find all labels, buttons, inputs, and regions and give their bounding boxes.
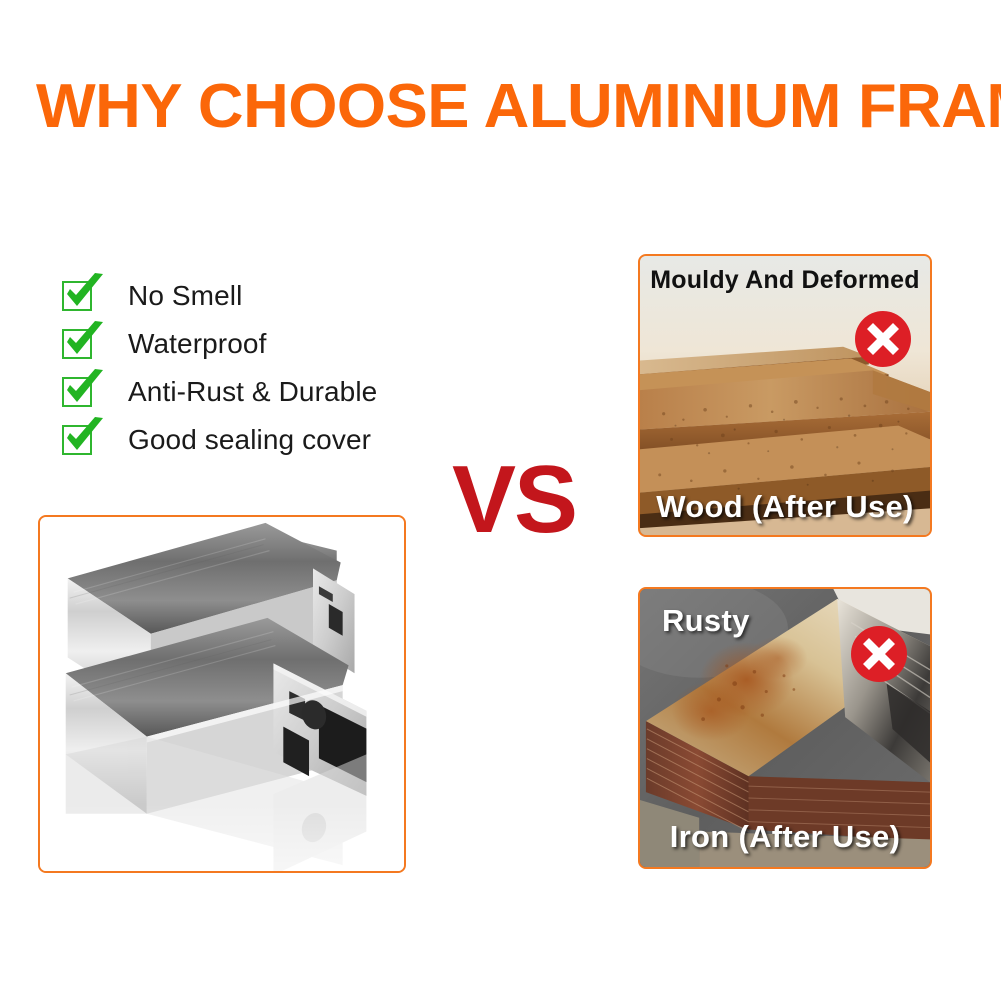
list-item: Good sealing cover — [62, 416, 482, 464]
list-item: No Smell — [62, 272, 482, 320]
aluminium-profile-photo — [40, 517, 404, 871]
page-title: WHY CHOOSE ALUMINIUM FRAME? — [36, 76, 995, 138]
list-item: Anti-Rust & Durable — [62, 368, 482, 416]
red-x-icon — [854, 310, 912, 368]
feature-label: Anti-Rust & Durable — [128, 376, 377, 408]
feature-list: No Smell Waterproof Anti-Rust & Durable — [62, 272, 482, 464]
list-item: Waterproof — [62, 320, 482, 368]
feature-label: Waterproof — [128, 328, 266, 360]
infographic-page: WHY CHOOSE ALUMINIUM FRAME? No Smell Wat… — [0, 0, 1001, 1001]
checkmark-icon — [62, 281, 92, 311]
versus-label: VS — [452, 452, 576, 548]
iron-panel: Rusty Iron (After Use) — [638, 587, 932, 869]
checkmark-icon — [62, 377, 92, 407]
wood-status-caption: Mouldy And Deformed — [640, 266, 930, 295]
checkmark-icon — [62, 329, 92, 359]
checkmark-icon — [62, 425, 92, 455]
feature-label: Good sealing cover — [128, 424, 371, 456]
wood-panel: Mouldy And Deformed Wood (After Use) — [638, 254, 932, 537]
iron-status-caption: Rusty — [662, 603, 750, 639]
iron-label: Iron (After Use) — [640, 819, 930, 855]
aluminium-panel — [38, 515, 406, 873]
wood-label: Wood (After Use) — [640, 489, 930, 525]
feature-label: No Smell — [128, 280, 242, 312]
red-x-icon — [850, 625, 908, 683]
